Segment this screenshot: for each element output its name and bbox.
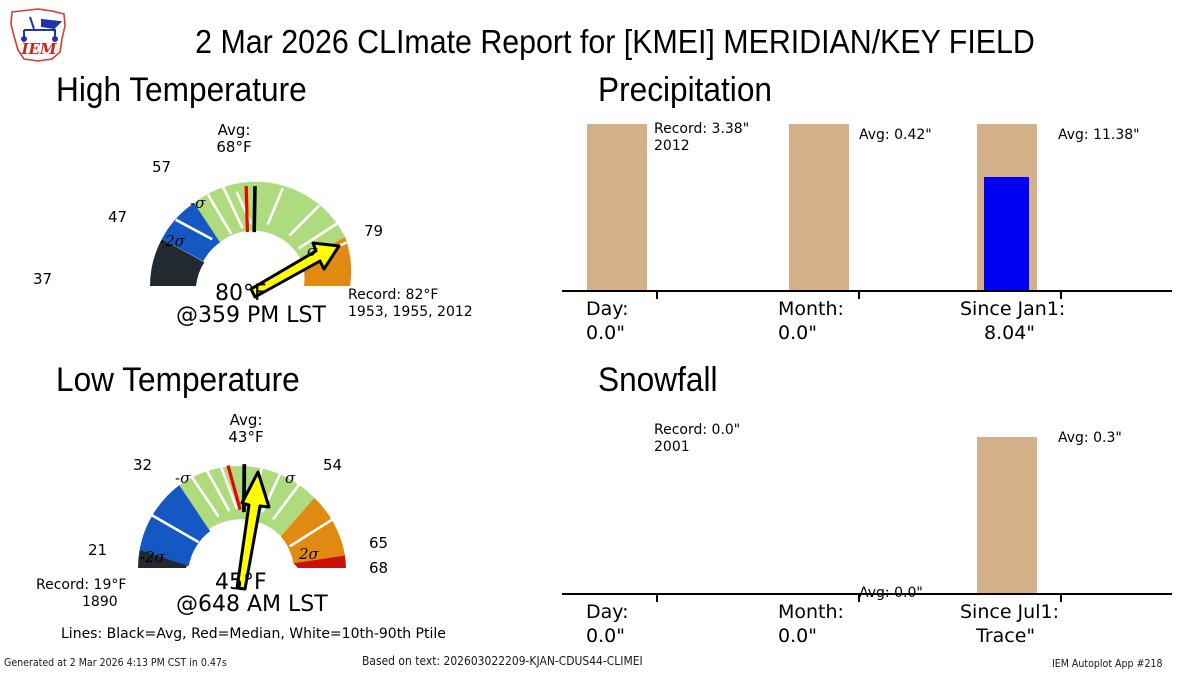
precip-category-day-value: 0.0" <box>586 322 726 345</box>
section-title-low-temperature: Low Temperature <box>56 360 300 400</box>
snowfall-chart: Record: 0.0" 2001 Avg: 0.0" Avg: 0.3" Da… <box>540 400 1200 650</box>
precip-record-year: 2012 <box>654 138 690 155</box>
snow-category-day-label: Day: <box>586 601 726 624</box>
low-tick-32-value: 32 <box>133 456 152 474</box>
precip-category-year-value: 8.04" <box>984 322 1164 345</box>
precip-category-month-value: 0.0" <box>778 322 938 345</box>
high-temperature-gauge <box>60 118 520 328</box>
precip-record-value: Record: 3.38" <box>654 121 749 138</box>
snow-bar-year-climate <box>977 437 1037 593</box>
low-label-minus-2sigma: -2σ <box>140 548 165 566</box>
high-label-minus-sigma: -σ <box>190 194 205 212</box>
low-avg-caption-line2: 43°F <box>216 428 276 446</box>
snow-category-year-label: Since Jul1: <box>960 601 1140 624</box>
precip-axis-line <box>562 290 1172 292</box>
snow-category-month-label: Month: <box>778 601 938 624</box>
high-avg-caption-line1: Avg: <box>204 121 264 139</box>
snow-category-month-value: 0.0" <box>778 625 938 648</box>
low-record-value: Record: 19°F <box>36 577 126 594</box>
footer-app-id: IEM Autoplot App #218 <box>1052 657 1163 671</box>
precip-bar-day-climate <box>587 124 647 290</box>
average-line <box>254 186 255 232</box>
low-label-plus-sigma: σ <box>285 469 295 487</box>
precip-bar-month-climate <box>789 124 849 290</box>
high-tick-plus1sigma-value: 79 <box>364 222 383 240</box>
high-record-value: Record: 82°F <box>348 287 438 304</box>
precip-bar-year-observed <box>984 177 1029 290</box>
footer-based-on-text: Based on text: 202603022209-KJAN-CDUS44-… <box>362 654 643 668</box>
low-observed-time: @648 AM LST <box>176 592 328 618</box>
low-record-years: 1890 <box>82 594 118 611</box>
low-label-plus-2sigma: 2σ <box>299 545 319 563</box>
precip-category-year-label: Since Jan1: <box>960 298 1140 321</box>
iem-logo: IEM <box>8 6 70 64</box>
section-title-high-temperature: High Temperature <box>56 70 307 110</box>
low-avg-caption-line1: Avg: <box>216 411 276 429</box>
logo-text: IEM <box>20 40 56 58</box>
low-tick-65-value: 65 <box>369 534 388 552</box>
low-label-minus-sigma: -σ <box>175 469 190 487</box>
precip-category-day-label: Day: <box>586 298 726 321</box>
high-tick-minus2sigma-value: 47 <box>108 208 127 226</box>
high-label-minus-2sigma: -2σ <box>160 232 185 250</box>
snow-category-day-value: 0.0" <box>586 625 726 648</box>
high-record-years: 1953, 1955, 2012 <box>348 304 473 321</box>
gauge-lines-legend: Lines: Black=Avg, Red=Median, White=10th… <box>61 626 446 643</box>
snow-month-average: Avg: 0.0" <box>859 585 923 602</box>
precip-month-average: Avg: 0.42" <box>859 127 932 144</box>
snow-category-year-value: Trace" <box>976 625 1156 648</box>
precip-category-month-label: Month: <box>778 298 938 321</box>
precip-year-average: Avg: 11.38" <box>1058 127 1140 144</box>
snow-record-year: 2001 <box>654 439 690 456</box>
page-title: 2 Mar 2026 CLImate Report for [KMEI] MER… <box>150 22 1079 62</box>
low-tick-54-value: 54 <box>323 456 342 474</box>
snow-record-value: Record: 0.0" <box>654 422 740 439</box>
low-tick-low-value: 21 <box>88 541 107 559</box>
section-title-snowfall: Snowfall <box>598 360 718 400</box>
high-label-plus-sigma: σ <box>307 242 317 260</box>
low-tick-high-value: 68 <box>369 559 388 577</box>
median-line <box>246 186 247 232</box>
high-tick-minus1sigma-value: 57 <box>152 158 171 176</box>
precipitation-chart: Record: 3.38" 2012 Avg: 0.42" Avg: 11.38… <box>540 110 1200 350</box>
high-tick-low-value: 37 <box>33 270 52 288</box>
section-title-precipitation: Precipitation <box>598 70 772 110</box>
footer-generated-text: Generated at 2 Mar 2026 4:13 PM CST in 0… <box>4 656 227 670</box>
high-avg-caption-line2: 68°F <box>204 138 264 156</box>
high-observed-time: @359 PM LST <box>176 303 326 329</box>
snow-year-average: Avg: 0.3" <box>1058 430 1122 447</box>
